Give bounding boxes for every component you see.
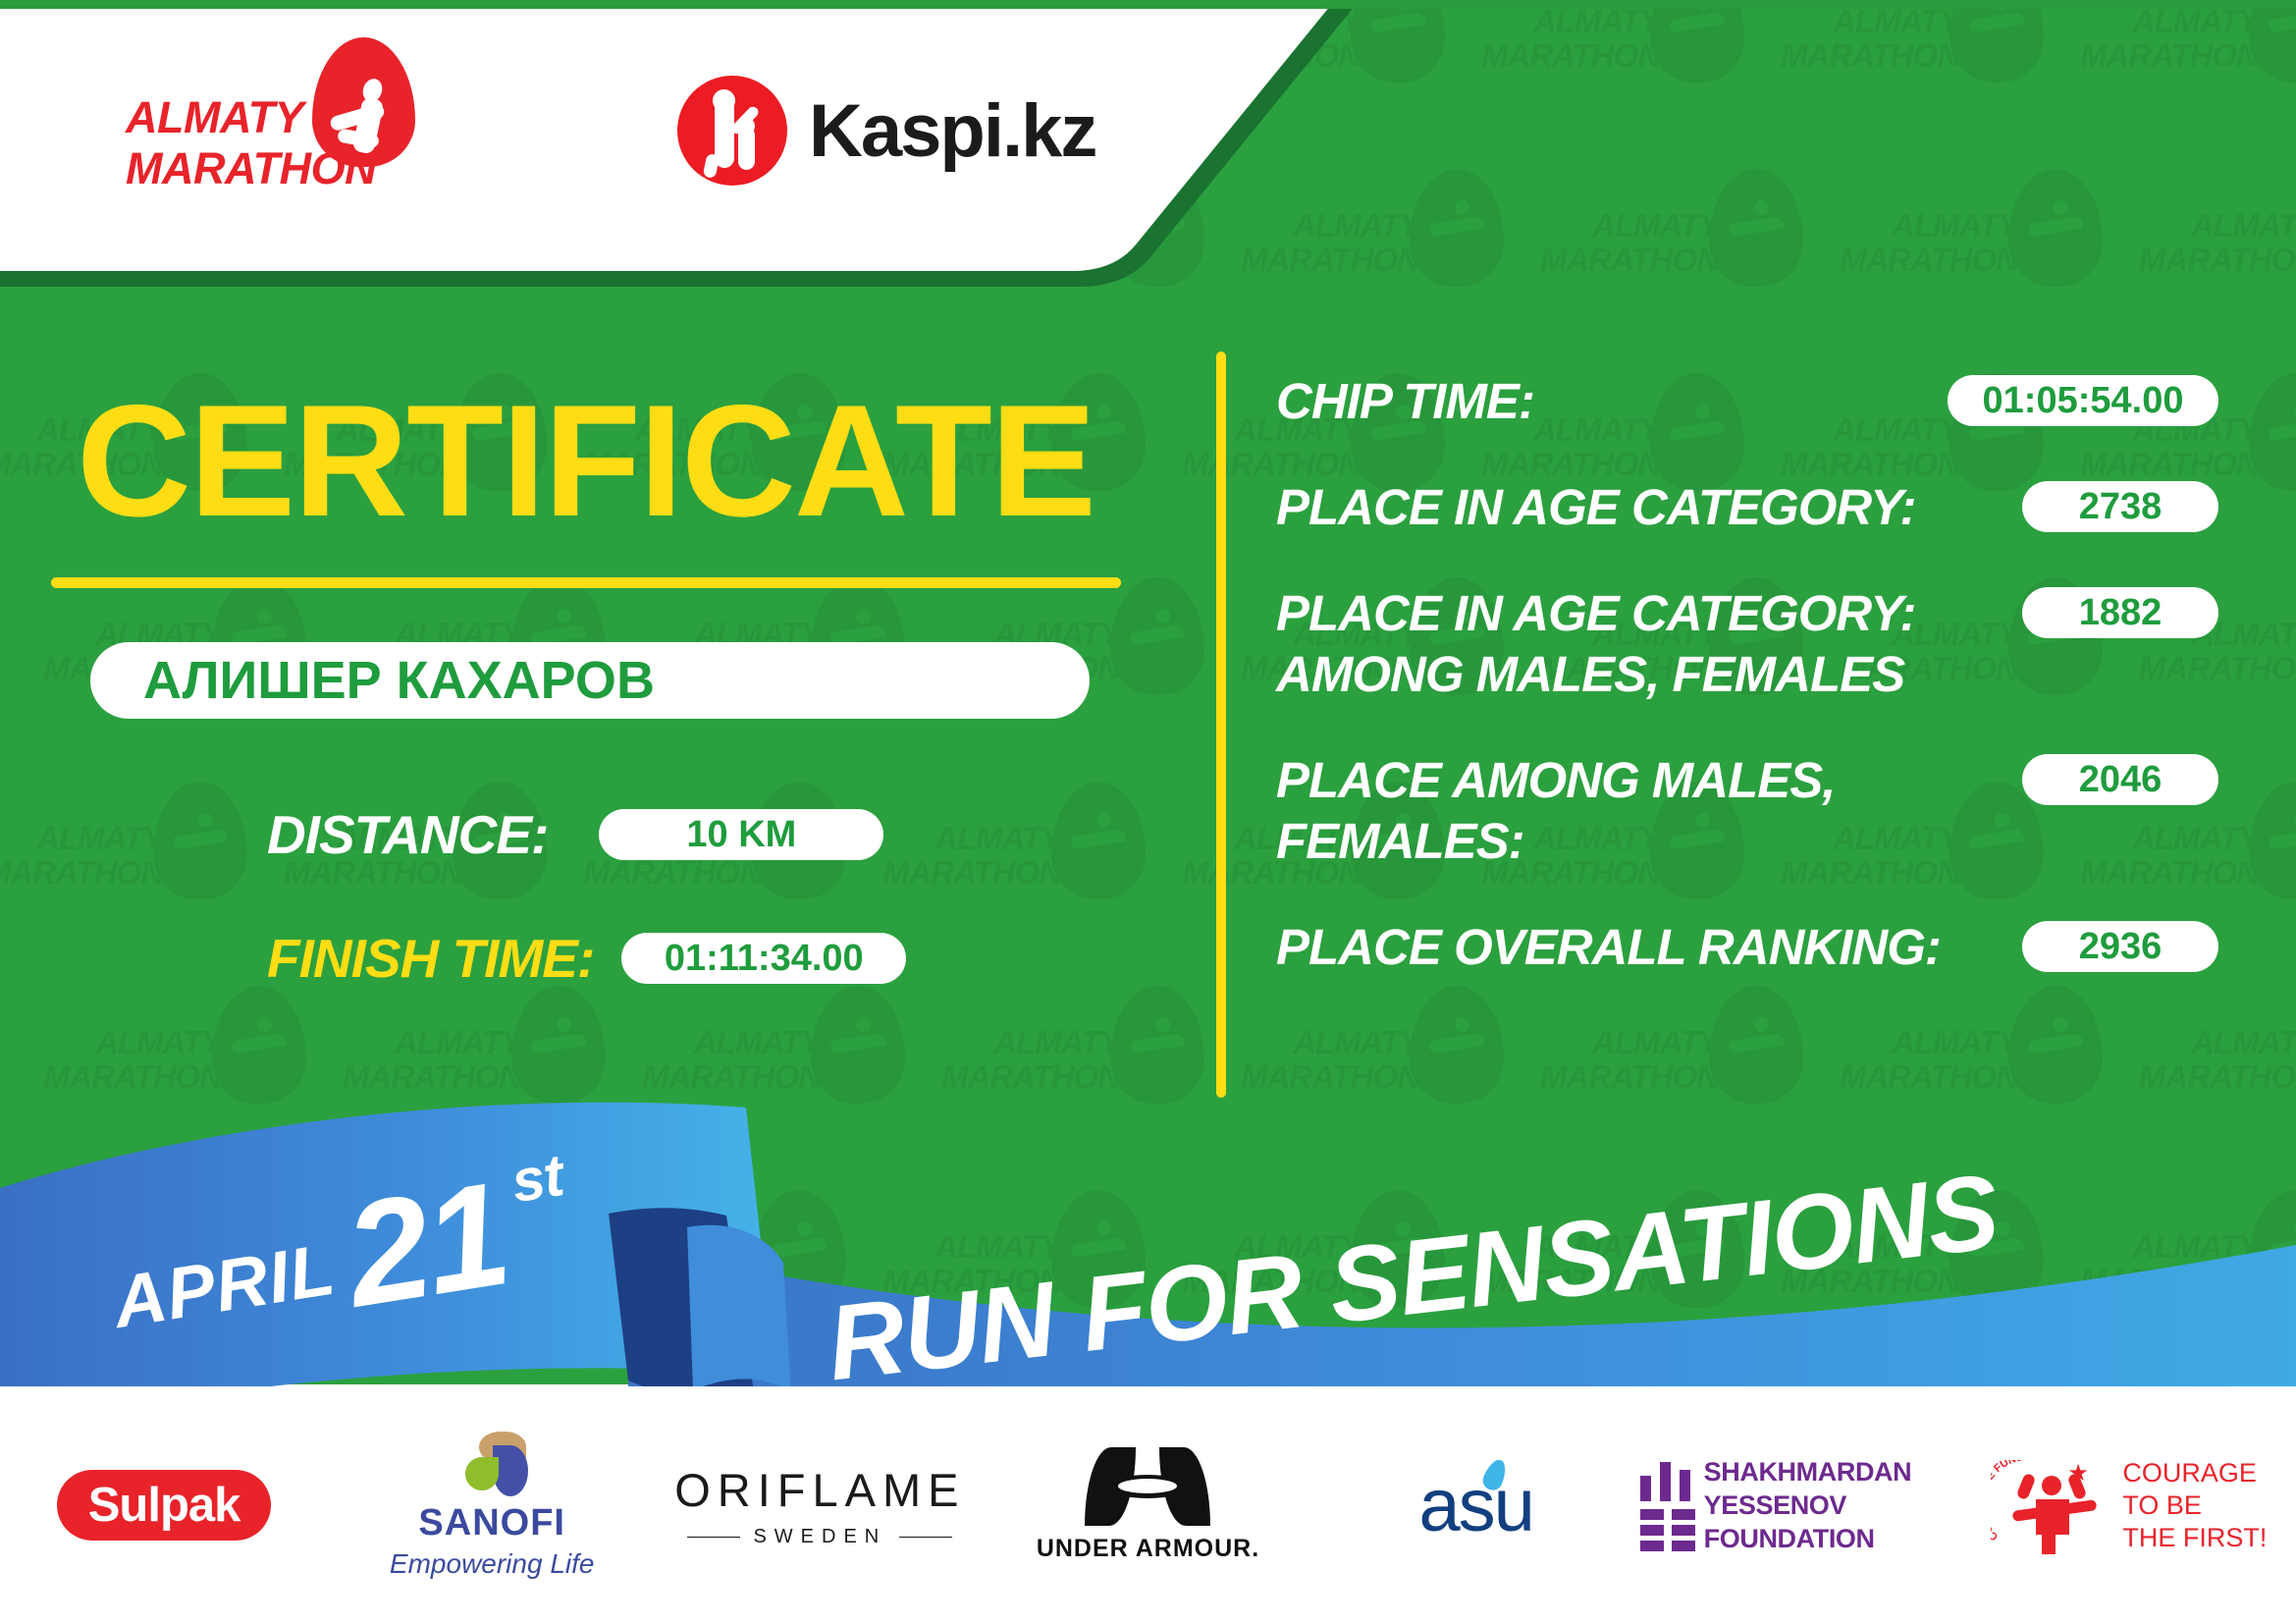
stat-row: PLACE IN AGE CATEGORY:2738 [1276, 477, 2218, 538]
distance-value: 10 KM [599, 809, 883, 860]
divider-line-right [899, 1537, 952, 1538]
stat-value: 2738 [2022, 481, 2218, 532]
yessenov-wordmark: SHAKHMARDAN YESSENOV FOUNDATION [1704, 1455, 1968, 1555]
sanofi-tagline: Empowering Life [390, 1548, 595, 1580]
distance-row: DISTANCE: 10 KM [267, 803, 883, 866]
stat-value: 1882 [2022, 587, 2218, 638]
watermark-tile: ALMATYMARATHON [1757, 0, 2052, 118]
sponsor-sulpak: Sulpak [0, 1470, 328, 1541]
sponsor-asu: asu [1312, 1463, 1640, 1548]
yessenov-bars-icon [1640, 1462, 1682, 1548]
watermark-tile: ALMATYMARATHON [2056, 0, 2296, 118]
sanofi-mark-icon [450, 1432, 534, 1496]
sulpak-wordmark: Sulpak [88, 1478, 240, 1533]
yessenov-line-2: FOUNDATION [1704, 1522, 1968, 1555]
sanofi-logo: SANOFI Empowering Life [390, 1432, 595, 1580]
finish-time-value: 01:11:34.00 [621, 933, 906, 984]
divider-line-left [687, 1537, 740, 1538]
watermark-tile: ALMATYMARATHON [0, 778, 255, 935]
almaty-marathon-logo: ALMATY MARATHON [126, 67, 440, 214]
participant-name-value: АЛИШЕР КАХАРОВ [143, 650, 655, 711]
courage-line-3: THE FIRST! [2122, 1522, 2267, 1554]
stat-label: PLACE OVERALL RANKING: [1276, 917, 1999, 978]
almaty-marathon-wordmark: ALMATY MARATHON [126, 92, 376, 194]
courage-line-1: COURAGE [2122, 1457, 2267, 1489]
watermark-tile: ALMATYMARATHON [1517, 165, 1811, 322]
sulpak-logo: Sulpak [57, 1470, 271, 1541]
stat-row: PLACE OVERALL RANKING:2936 [1276, 917, 2218, 978]
stat-label: PLACE IN AGE CATEGORY: [1276, 477, 1999, 538]
under-armour-logo: UNDER ARMOUR. [1037, 1447, 1259, 1563]
oriflame-subtitle: SWEDEN [674, 1526, 965, 1548]
sponsors-bar: Sulpak SANOFI Empowering Life ORIFLAME S… [0, 1386, 2296, 1624]
oriflame-logo: ORIFLAME SWEDEN [674, 1463, 965, 1548]
oriflame-wordmark: ORIFLAME [674, 1463, 965, 1517]
stat-label: PLACE IN AGE CATEGORY: AMONG MALES, FEMA… [1276, 583, 1999, 705]
courage-to-be-the-first-logo: CORPORATE FUND ★ COURAGE TO BE THE FIRST… [1997, 1456, 2267, 1554]
oriflame-sweden-text: SWEDEN [753, 1526, 886, 1548]
yessenov-line-1: SHAKHMARDAN YESSENOV [1704, 1455, 1968, 1522]
watermark-tile: ALMATYMARATHON [2115, 165, 2296, 322]
svg-text:CORPORATE FUND: CORPORATE FUND [1991, 1460, 2025, 1543]
watermark-tile: ALMATYMARATHON [1458, 0, 1752, 118]
certificate-page: ALMATYMARATHONALMATYMARATHONALMATYMARATH… [0, 0, 2296, 1624]
ribbon-day: 21 [339, 1173, 513, 1315]
under-armour-icon [1085, 1447, 1210, 1526]
results-stats-list: CHIP TIME:01:05:54.00PLACE IN AGE CATEGO… [1276, 371, 2218, 1023]
kaspi-logo: Kaspi.kz [677, 77, 1095, 185]
distance-label: DISTANCE: [267, 803, 548, 866]
stat-row: CHIP TIME:01:05:54.00 [1276, 371, 2218, 432]
finish-time-label: FINISH TIME: [267, 927, 594, 990]
courage-runner-icon: CORPORATE FUND ★ [1997, 1456, 2107, 1554]
stat-row: PLACE IN AGE CATEGORY: AMONG MALES, FEMA… [1276, 583, 2218, 705]
sponsor-under-armour: UNDER ARMOUR. [984, 1447, 1311, 1563]
stat-value: 2046 [2022, 754, 2218, 805]
sponsor-courage-fund: CORPORATE FUND ★ COURAGE TO BE THE FIRST… [1968, 1456, 2296, 1554]
top-green-rule [0, 0, 2296, 9]
sponsor-sanofi: SANOFI Empowering Life [328, 1432, 656, 1580]
asu-wordmark: asu [1418, 1464, 1533, 1547]
watermark-tile: ALMATYMARATHON [859, 778, 1153, 935]
kaspi-wordmark: Kaspi.kz [809, 88, 1095, 174]
almaty-line-1: ALMATY [126, 92, 376, 143]
stat-value: 01:05:54.00 [1948, 375, 2218, 426]
participant-name-field: АЛИШЕР КАХАРОВ [90, 642, 1090, 719]
stat-row: PLACE AMONG MALES, FEMALES:2046 [1276, 750, 2218, 872]
title-underline [51, 577, 1121, 588]
sponsor-yessenov-foundation: SHAKHMARDAN YESSENOV FOUNDATION [1640, 1455, 1968, 1555]
almaty-line-2: MARATHON [126, 143, 376, 194]
courage-line-2: TO BE [2122, 1489, 2267, 1522]
sponsor-oriflame: ORIFLAME SWEDEN [656, 1463, 984, 1548]
sanofi-wordmark: SANOFI [390, 1502, 595, 1544]
asu-logo: asu [1418, 1463, 1533, 1548]
stat-value: 2936 [2022, 921, 2218, 972]
stat-label: CHIP TIME: [1276, 371, 1924, 432]
under-armour-wordmark: UNDER ARMOUR. [1037, 1535, 1259, 1563]
page-title: CERTIFICATE [77, 383, 1095, 540]
watermark-tile: ALMATYMARATHON [1816, 165, 2110, 322]
stat-label: PLACE AMONG MALES, FEMALES: [1276, 750, 1999, 872]
yessenov-logo: SHAKHMARDAN YESSENOV FOUNDATION [1640, 1455, 1968, 1555]
vertical-divider [1216, 352, 1226, 1098]
kaspi-people-icon [677, 76, 787, 186]
courage-wordmark: COURAGE TO BE THE FIRST! [2122, 1457, 2267, 1554]
finish-time-row: FINISH TIME: 01:11:34.00 [267, 927, 906, 990]
